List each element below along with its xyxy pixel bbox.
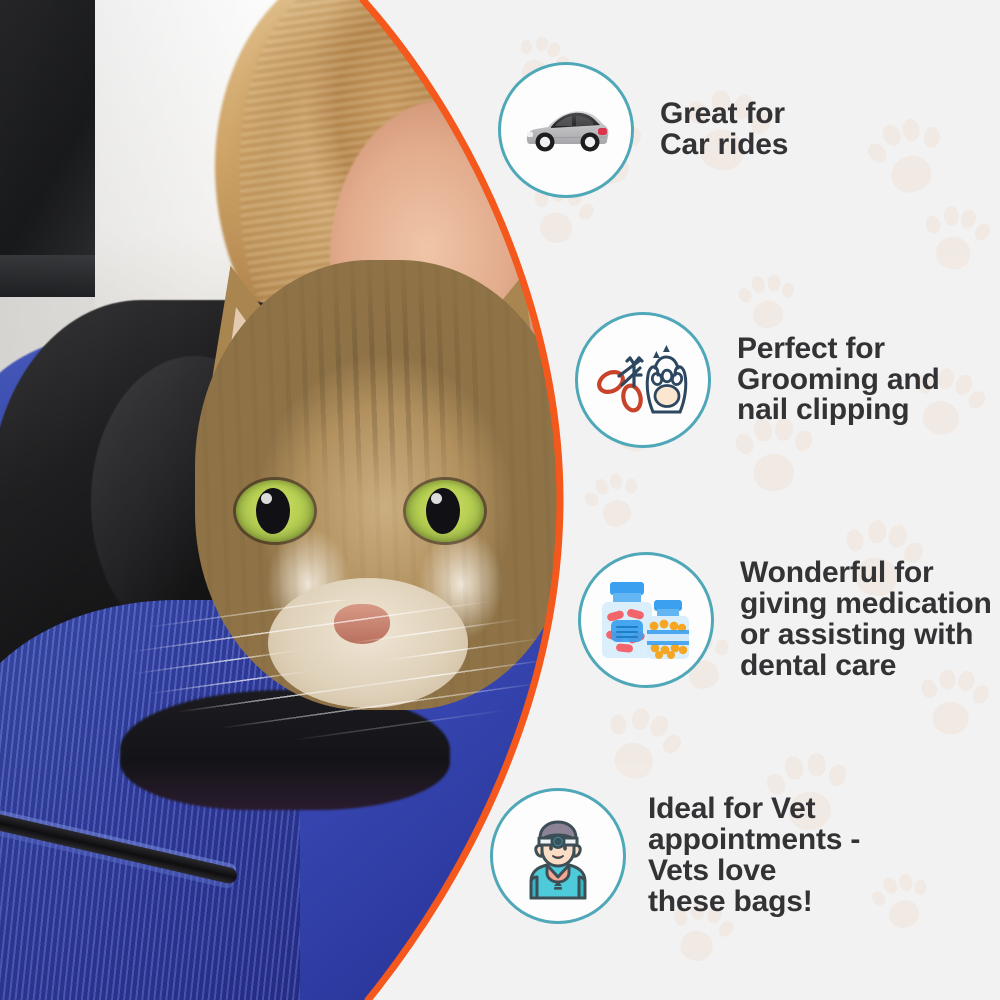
feature-item-car-rides: Great for Car rides bbox=[498, 62, 788, 198]
cat-photo-scene bbox=[0, 0, 560, 1000]
cat-pupil-right bbox=[426, 488, 460, 534]
feature-item-grooming: Perfect for Grooming and nail clipping bbox=[575, 312, 940, 448]
veterinarian-icon bbox=[506, 804, 610, 908]
feature-label: Ideal for Vet appointments - Vets love t… bbox=[648, 794, 860, 918]
feature-item-vet: Ideal for Vet appointments - Vets love t… bbox=[490, 788, 860, 924]
feature-label: Wonderful for giving medication or assis… bbox=[740, 558, 992, 682]
car-icon bbox=[514, 78, 618, 182]
feature-item-medication: Wonderful for giving medication or assis… bbox=[578, 552, 992, 688]
feature-label: Great for Car rides bbox=[660, 99, 788, 161]
product-feature-infographic: Great for Car rides bbox=[0, 0, 1000, 1000]
car-icon-circle bbox=[498, 62, 634, 198]
feature-label: Perfect for Grooming and nail clipping bbox=[737, 334, 940, 427]
cat-pupil-left bbox=[256, 488, 290, 534]
feature-list: Great for Car rides bbox=[480, 0, 1000, 1000]
photo-monitor bbox=[0, 0, 110, 280]
pill-bottles-icon-circle bbox=[578, 552, 714, 688]
pill-bottles-icon bbox=[594, 568, 698, 672]
photo-monitor-base bbox=[0, 255, 100, 297]
veterinarian-icon-circle bbox=[490, 788, 626, 924]
nail-clipper-paw-icon-circle bbox=[575, 312, 711, 448]
nail-clipper-paw-icon bbox=[591, 328, 695, 432]
